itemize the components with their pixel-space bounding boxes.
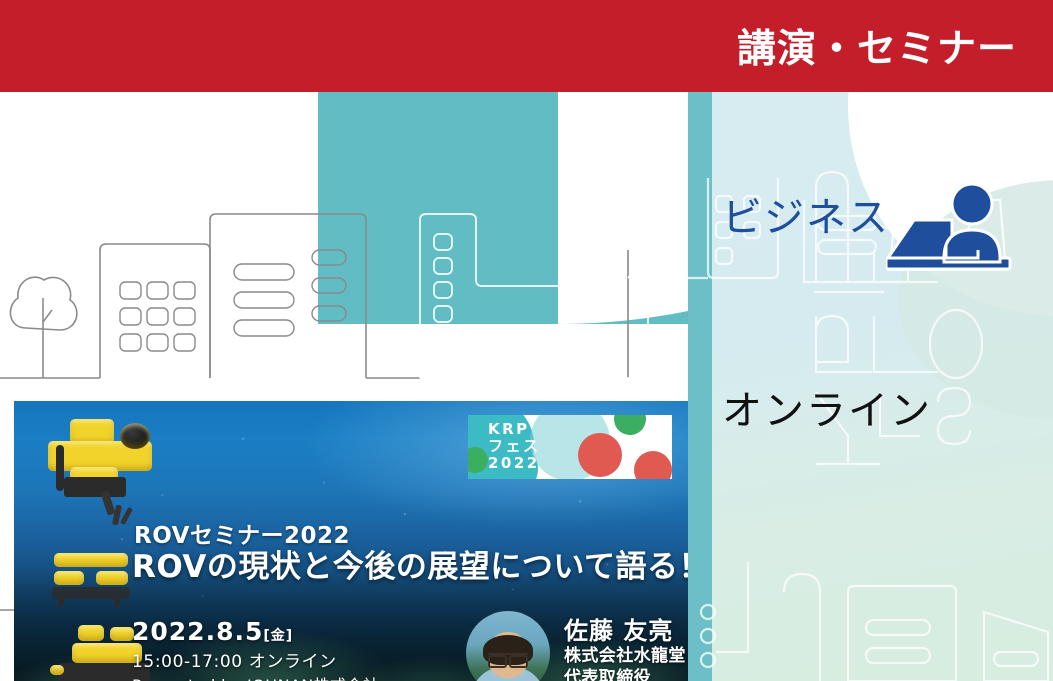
- krp-fes-badge: KRP フェス 2022: [468, 415, 672, 479]
- tag-business-label: ビジネス: [722, 185, 890, 243]
- rov-submersible-icon: [48, 419, 166, 529]
- panel-accent-strip: [688, 92, 712, 681]
- person-at-laptop-icon: [886, 174, 1020, 302]
- speaker-block: 佐藤 友亮 株式会社水龍堂 代表取締役: [466, 611, 686, 681]
- krp-badge-text: KRP フェス 2022: [488, 421, 541, 472]
- speaker-avatar: [466, 611, 550, 681]
- krp-badge-line1: KRP: [488, 421, 541, 438]
- seminar-banner-image[interactable]: KRP フェス 2022 ROVセミナー2022 ROVの現状と今後の展望につい…: [14, 401, 688, 681]
- event-card: 講演・セミナー: [0, 0, 1053, 681]
- seminar-date: 2022.8.5: [132, 617, 263, 646]
- speaker-role: 代表取締役: [564, 667, 686, 681]
- seminar-presented-by: Presented by JOHNAN株式会社: [132, 674, 379, 681]
- category-label: 講演・セミナー: [737, 18, 1017, 74]
- speaker-text: 佐藤 友亮 株式会社水龍堂 代表取締役: [564, 617, 686, 681]
- rov-submersible-icon: [52, 551, 134, 607]
- tag-panel: ビジネス オンライン: [688, 92, 1053, 681]
- category-banner: 講演・セミナー: [0, 0, 1053, 92]
- krp-badge-line2: フェス: [488, 438, 541, 455]
- seminar-date-line: 2022.8.5[金]: [132, 617, 379, 651]
- avatar-glasses-icon: [488, 653, 528, 662]
- seminar-schedule-block: 2022.8.5[金] 15:00-17:00 オンライン Presented …: [132, 617, 379, 681]
- tag-online-label: オンライン: [722, 378, 932, 436]
- krp-badge-line3: 2022: [488, 455, 541, 472]
- seminar-title: ROVの現状と今後の展望について語る！: [132, 541, 688, 586]
- illustration-area: KRP フェス 2022 ROVセミナー2022 ROVの現状と今後の展望につい…: [0, 92, 712, 681]
- speaker-name: 佐藤 友亮: [564, 617, 686, 645]
- speaker-company: 株式会社水龍堂: [564, 645, 686, 667]
- teal-band-shape: [318, 92, 712, 324]
- seminar-time: 15:00-17:00 オンライン: [132, 651, 379, 674]
- seminar-day-of-week: [金]: [263, 628, 293, 644]
